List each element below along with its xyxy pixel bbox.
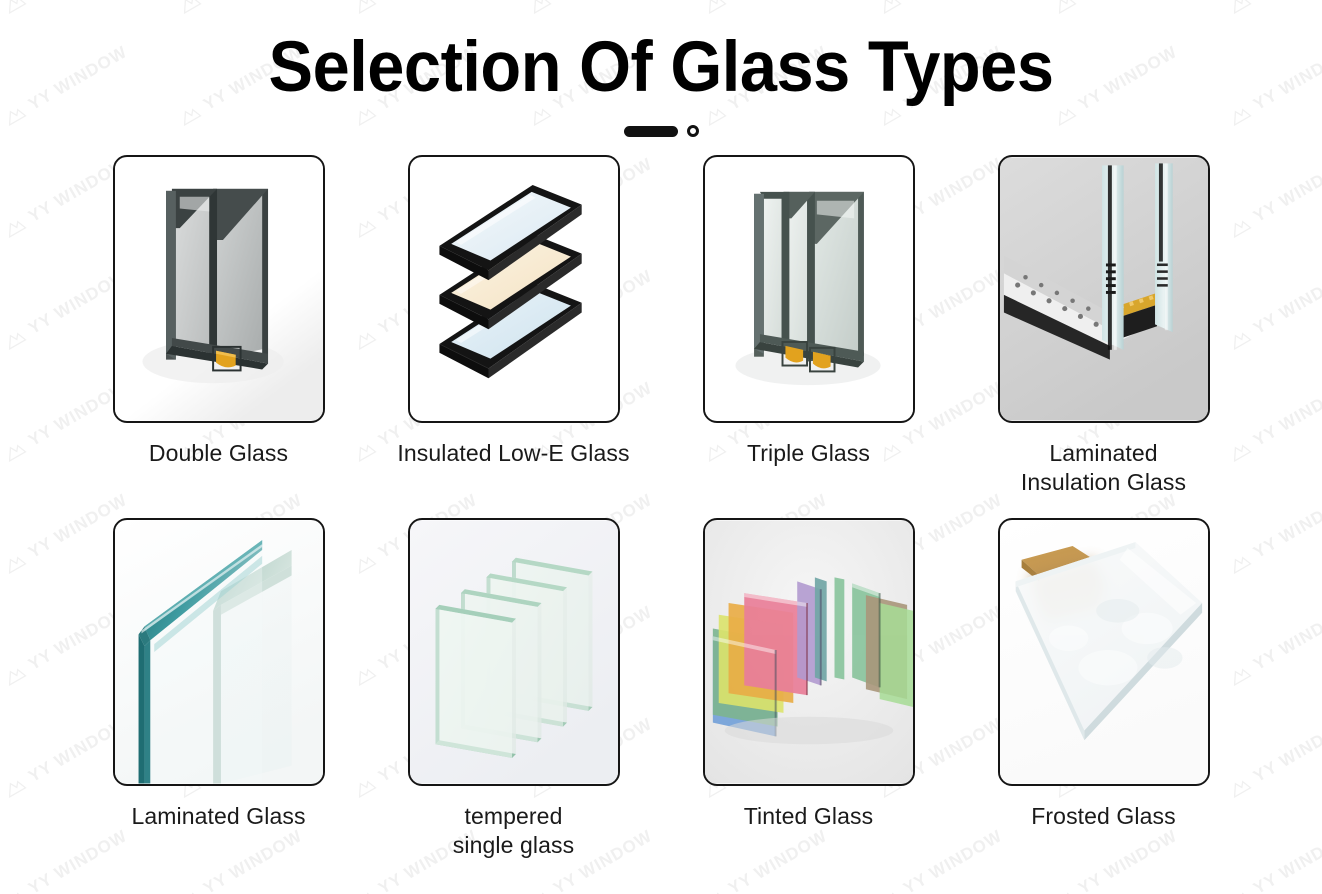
watermark-logo-icon <box>701 887 728 894</box>
card-image-frame <box>998 518 1210 786</box>
poster-canvas: YY WINDOWYY WINDOWYY WINDOWYY WINDOWYY W… <box>0 0 1322 894</box>
poster-header: Selection Of Glass Types <box>0 0 1322 139</box>
caption-line: Laminated <box>1021 439 1186 468</box>
watermark-logo-icon <box>1051 887 1078 894</box>
card-caption: tempered single glass <box>453 802 574 861</box>
divider-dot-shape <box>687 125 699 137</box>
watermark-logo-icon <box>876 887 903 894</box>
glass-type-card-frosted-glass[interactable]: Frosted Glass <box>956 518 1251 861</box>
card-caption: Laminated Glass <box>131 802 305 831</box>
card-image-frame <box>408 518 620 786</box>
watermark-logo-icon <box>1 663 28 687</box>
card-image-frame <box>703 155 915 423</box>
caption-line: single glass <box>453 831 574 860</box>
colored-glass-fan-image <box>705 520 913 784</box>
watermark-logo-icon <box>351 887 378 894</box>
stacked-framed-panes-image <box>410 157 618 421</box>
card-caption: Frosted Glass <box>1031 802 1175 831</box>
glass-type-card-double-glass[interactable]: Double Glass <box>71 155 366 498</box>
caption-line: Tinted Glass <box>744 802 873 831</box>
divider-bar-shape <box>624 126 678 137</box>
card-image-frame <box>113 155 325 423</box>
laminated-insulation-corner-image <box>1000 157 1208 421</box>
watermark-logo-icon <box>1 439 28 463</box>
glass-types-grid: Double Glass <box>71 155 1251 861</box>
triple-glazing-unit-image <box>705 157 913 421</box>
caption-line: Double Glass <box>149 439 288 468</box>
caption-line: Insulated Low-E Glass <box>397 439 629 468</box>
watermark-logo-icon <box>526 887 553 894</box>
title-divider <box>0 123 1322 139</box>
glass-type-card-tinted-glass[interactable]: Tinted Glass <box>661 518 956 861</box>
card-image-frame <box>703 518 915 786</box>
glass-type-card-tempered-single-glass[interactable]: tempered single glass <box>366 518 661 861</box>
caption-line: Triple Glass <box>747 439 870 468</box>
page-title: Selection Of Glass Types <box>40 32 1283 103</box>
laminated-panel-corner-image <box>115 520 323 784</box>
card-caption: Laminated Insulation Glass <box>1021 439 1186 498</box>
caption-line: tempered <box>453 802 574 831</box>
watermark-logo-icon <box>1 887 28 894</box>
watermark-logo-icon <box>1 551 28 575</box>
card-caption: Insulated Low-E Glass <box>397 439 629 468</box>
card-image-frame <box>998 155 1210 423</box>
card-caption: Double Glass <box>149 439 288 468</box>
watermark-logo-icon <box>1 775 28 799</box>
double-glazing-unit-image <box>115 157 323 421</box>
watermark-logo-icon <box>1 215 28 239</box>
stacked-clear-sheets-image <box>410 520 618 784</box>
watermark-logo-icon <box>1 327 28 351</box>
caption-line: Frosted Glass <box>1031 802 1175 831</box>
glass-type-card-triple-glass[interactable]: Triple Glass <box>661 155 956 498</box>
caption-line: Insulation Glass <box>1021 468 1186 497</box>
card-image-frame <box>113 518 325 786</box>
card-caption: Tinted Glass <box>744 802 873 831</box>
glass-type-card-laminated-insulation-glass[interactable]: Laminated Insulation Glass <box>956 155 1251 498</box>
card-caption: Triple Glass <box>747 439 870 468</box>
glass-type-card-insulated-low-e-glass[interactable]: Insulated Low-E Glass <box>366 155 661 498</box>
card-image-frame <box>408 155 620 423</box>
glass-type-card-laminated-glass[interactable]: Laminated Glass <box>71 518 366 861</box>
watermark-logo-icon <box>1226 887 1253 894</box>
caption-line: Laminated Glass <box>131 802 305 831</box>
watermark-logo-icon <box>176 887 203 894</box>
frosted-sheet-image <box>1000 520 1208 784</box>
